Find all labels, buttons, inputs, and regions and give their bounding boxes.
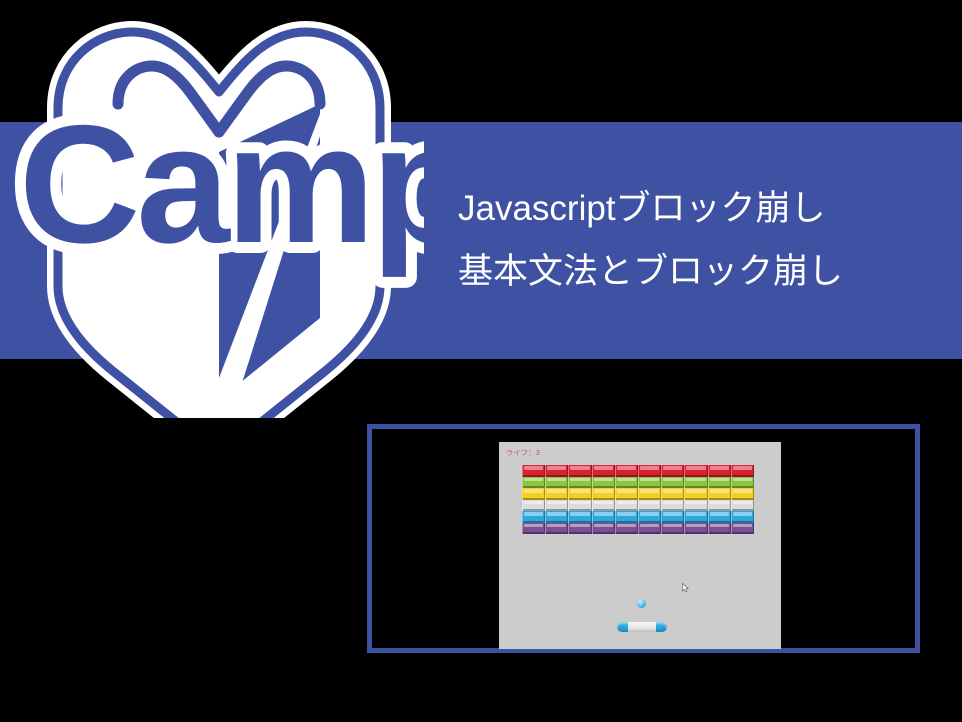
brick	[638, 500, 661, 512]
brick	[592, 523, 615, 535]
brick	[684, 511, 707, 523]
brick	[661, 477, 684, 489]
brick	[545, 511, 568, 523]
brick	[731, 488, 754, 500]
brick	[684, 523, 707, 535]
brick	[615, 477, 638, 489]
brick	[545, 523, 568, 535]
brick	[615, 500, 638, 512]
brick	[708, 477, 731, 489]
page-title: Javascriptブロック崩し	[458, 191, 928, 228]
brick	[545, 465, 568, 477]
brick	[708, 511, 731, 523]
brick	[731, 477, 754, 489]
brick	[592, 511, 615, 523]
mouse-pointer-icon	[682, 583, 689, 593]
brick	[592, 500, 615, 512]
breakout-game-canvas[interactable]: ライフ：3	[499, 442, 781, 649]
life-counter-label: ライフ：3	[506, 448, 540, 458]
brick	[522, 488, 545, 500]
brick	[684, 477, 707, 489]
brick	[638, 465, 661, 477]
brick	[545, 477, 568, 489]
camp-logo: Camp Camp	[14, 18, 424, 418]
brick	[708, 500, 731, 512]
brick	[708, 488, 731, 500]
svg-text:Camp: Camp	[19, 90, 424, 278]
brick	[661, 500, 684, 512]
brick	[684, 500, 707, 512]
brick	[684, 465, 707, 477]
brick	[731, 500, 754, 512]
brick	[638, 523, 661, 535]
title-text-group: Javascriptブロック崩し 基本文法とブロック崩し	[458, 122, 928, 359]
screenshot-frame: ライフ：3	[367, 424, 920, 653]
brick	[638, 511, 661, 523]
brick	[638, 477, 661, 489]
brick	[522, 500, 545, 512]
brick	[568, 465, 591, 477]
brick	[615, 465, 638, 477]
brick	[661, 511, 684, 523]
brick	[731, 465, 754, 477]
brick	[731, 511, 754, 523]
brick	[568, 477, 591, 489]
brick	[568, 523, 591, 535]
shield-m-logo-icon: Camp Camp	[14, 18, 424, 418]
brick	[684, 488, 707, 500]
brick	[568, 500, 591, 512]
brick	[615, 523, 638, 535]
brick	[568, 511, 591, 523]
page-subtitle: 基本文法とブロック崩し	[458, 254, 928, 291]
camp-wordmark: Camp Camp	[19, 90, 424, 278]
brick	[661, 488, 684, 500]
brick	[592, 488, 615, 500]
brick	[592, 477, 615, 489]
brick	[708, 523, 731, 535]
brick	[661, 523, 684, 535]
brick	[545, 488, 568, 500]
brick-grid	[522, 465, 754, 534]
brick	[568, 488, 591, 500]
brick	[545, 500, 568, 512]
brick	[615, 488, 638, 500]
brick	[708, 465, 731, 477]
brick	[522, 465, 545, 477]
game-ball	[637, 599, 646, 608]
brick	[638, 488, 661, 500]
brick	[522, 511, 545, 523]
brick	[592, 465, 615, 477]
brick	[522, 523, 545, 535]
slide-root: Javascriptブロック崩し 基本文法とブロック崩し	[0, 0, 962, 722]
brick	[661, 465, 684, 477]
brick	[522, 477, 545, 489]
brick	[731, 523, 754, 535]
brick	[615, 511, 638, 523]
game-paddle[interactable]	[617, 622, 667, 632]
